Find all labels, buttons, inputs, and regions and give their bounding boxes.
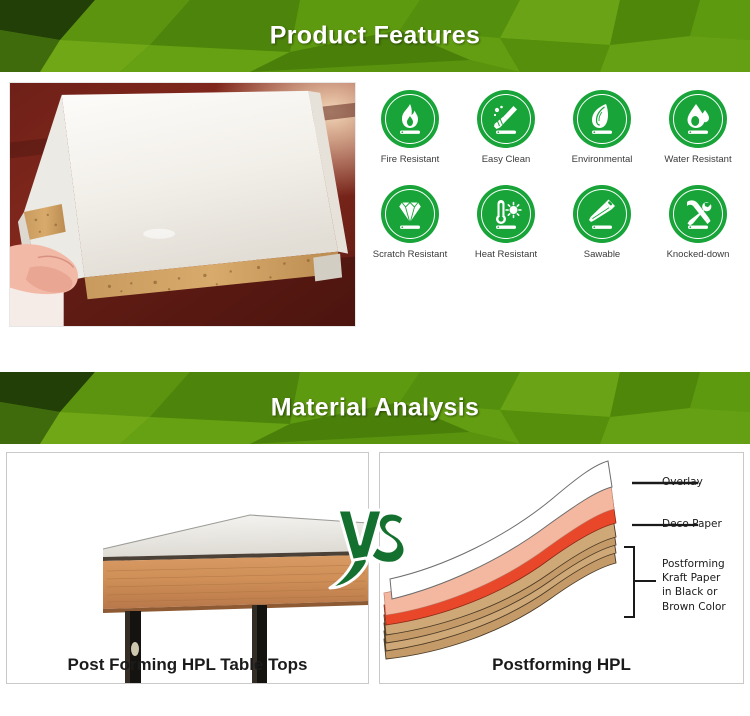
table-top-photo-illustration xyxy=(7,453,368,683)
postformed-white-panel-photo xyxy=(9,82,356,327)
page-title-product-features: Product Features xyxy=(0,22,750,51)
feature-label: Scratch Resistant xyxy=(373,250,447,260)
feature-label: Easy Clean xyxy=(482,155,531,165)
leaf-icon xyxy=(582,99,622,139)
feature-knocked-down[interactable]: Knocked-down xyxy=(650,185,746,260)
feature-scratch-resistant[interactable]: Scratch Resistant xyxy=(362,185,458,260)
feature-label: Environmental xyxy=(572,155,633,165)
hammer-wrench-icon xyxy=(678,194,718,234)
layer-label-deco-paper: Deco Paper xyxy=(662,517,722,531)
handsaw-icon xyxy=(582,194,622,234)
feature-label: Sawable xyxy=(584,250,620,260)
feature-badge xyxy=(381,90,439,148)
feature-environmental[interactable]: Environmental xyxy=(554,90,650,165)
feature-label: Fire Resistant xyxy=(381,155,440,165)
page-title-material-analysis: Material Analysis xyxy=(0,394,750,423)
left-panel-caption: Post Forming HPL Table Tops xyxy=(7,655,368,675)
water-drop-icon xyxy=(678,99,718,139)
feature-label: Water Resistant xyxy=(664,155,731,165)
feature-badge xyxy=(573,90,631,148)
vs-icon xyxy=(324,504,414,596)
feature-water-resistant[interactable]: Water Resistant xyxy=(650,90,746,165)
material-analysis-section: Post Forming HPL Table Tops Overlay xyxy=(0,444,750,716)
broom-icon xyxy=(486,99,526,139)
right-panel-caption: Postforming HPL xyxy=(380,655,743,675)
product-features-banner: Product Features xyxy=(0,0,750,72)
feature-label: Heat Resistant xyxy=(475,250,537,260)
feature-label: Knocked-down xyxy=(667,250,730,260)
flame-icon xyxy=(390,99,430,139)
feature-badge xyxy=(669,90,727,148)
feature-badge xyxy=(573,185,631,243)
layer-label-overlay: Overlay xyxy=(662,475,703,489)
product-features-icon-grid: Fire Resistant Easy Clean xyxy=(362,90,746,261)
feature-badge xyxy=(381,185,439,243)
feature-badge xyxy=(477,185,535,243)
thermometer-sun-icon xyxy=(486,194,526,234)
post-forming-table-tops-panel: Post Forming HPL Table Tops xyxy=(6,452,369,684)
diamond-icon xyxy=(390,194,430,234)
product-photo-illustration xyxy=(10,83,355,326)
material-analysis-banner: Material Analysis xyxy=(0,372,750,444)
feature-badge xyxy=(477,90,535,148)
versus-badge xyxy=(324,504,414,596)
feature-sawable[interactable]: Sawable xyxy=(554,185,650,260)
feature-badge xyxy=(669,185,727,243)
feature-fire-resistant[interactable]: Fire Resistant xyxy=(362,90,458,165)
feature-easy-clean[interactable]: Easy Clean xyxy=(458,90,554,165)
postforming-hpl-panel: Overlay Deco Paper Postforming Kraft Pap… xyxy=(379,452,744,684)
product-features-section: Fire Resistant Easy Clean xyxy=(0,72,750,372)
feature-heat-resistant[interactable]: Heat Resistant xyxy=(458,185,554,260)
layer-label-postforming-kraft-paper: Postforming Kraft Paper in Black or Brow… xyxy=(662,557,726,614)
